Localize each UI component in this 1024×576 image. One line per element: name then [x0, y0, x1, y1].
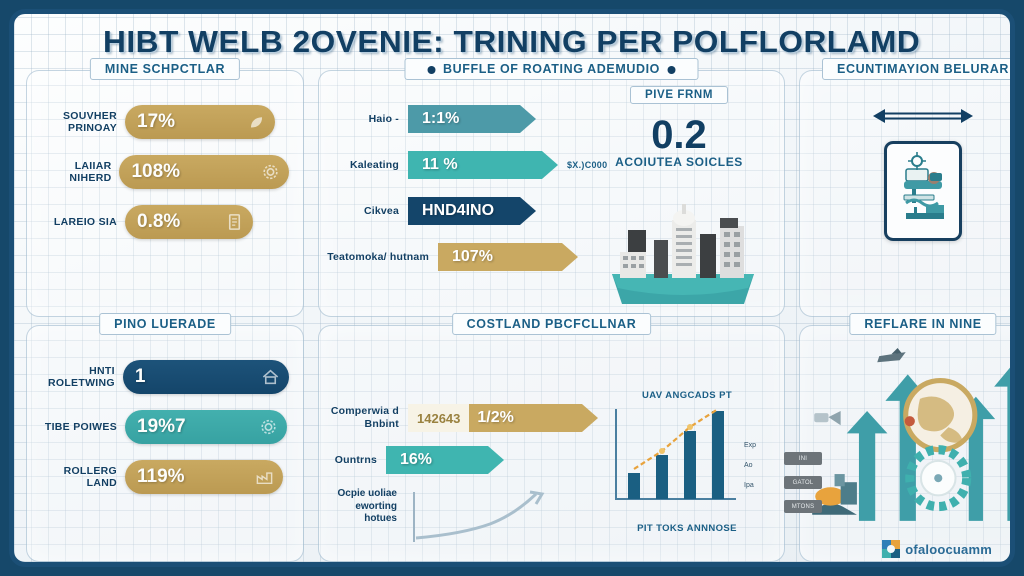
svg-text:Ao: Ao	[744, 462, 753, 469]
mini-chart-xlabel: PIT TOKS ANNNOSE	[598, 523, 776, 534]
arrow-row[interactable]: Haio - 1:1%	[325, 105, 619, 133]
panel-header-buffle-label: BUFFLE OF ROATING ADEMUDIO	[443, 62, 660, 76]
up-arrow-icon	[994, 362, 1015, 521]
squiggle-row: Ocpie uoliae eworting hotues	[325, 488, 598, 546]
pill-label: LAIIAR NIHERD	[35, 160, 111, 184]
city-skyline-illustration	[598, 200, 768, 308]
pill-bar[interactable]: 119%	[125, 460, 283, 494]
pill-label: SOUVHER PRINOAY	[35, 110, 117, 134]
panel-grid: MINE SCHPCTLAR SOUVHER PRINOAY 17% LAIIA…	[26, 70, 998, 562]
double-headed-arrow-icon	[871, 105, 975, 127]
framed-icon-container	[884, 141, 962, 241]
panel-buffle: BUFFLE OF ROATING ADEMUDIO Haio - 1:1% K…	[318, 70, 785, 317]
panel-costland: COSTLAND PBCFCLLNAR Comperwia d Bnbint 1…	[318, 325, 785, 562]
pill-row[interactable]: LAIIAR NIHERD 108%	[35, 155, 289, 189]
house-icon	[261, 368, 280, 387]
arrow-boxed-value: 142643	[408, 404, 469, 432]
globe-icon	[905, 381, 975, 450]
arrow-row[interactable]: Cikvea HND4INO	[325, 197, 619, 225]
stat-number: 0.2	[584, 114, 774, 156]
legend-item[interactable]: INI	[784, 452, 822, 465]
footer-logo[interactable]: ofaloocuamm	[882, 540, 992, 558]
chart-trend-line	[634, 409, 718, 469]
legend-item[interactable]: GATOL	[784, 476, 822, 489]
pill-value: 1	[135, 366, 146, 388]
legend-badge: MTONS	[784, 500, 822, 513]
mini-chart-title: UAV ANGCADS PT	[598, 390, 776, 401]
pill-bar[interactable]: 1	[123, 360, 289, 394]
arrow-label: Cikvea	[325, 205, 399, 218]
costland-body: Comperwia d Bnbint 142643 1/2% Ountrns 1…	[319, 326, 784, 561]
title-wrap: HIBT WELB 2OVENIE: TRINING PER POLFLORLA…	[26, 18, 998, 60]
pill-list-mine: SOUVHER PRINOAY 17% LAIIAR NIHERD 108%	[27, 71, 303, 249]
panel-mine-schpctlar: MINE SCHPCTLAR SOUVHER PRINOAY 17% LAIIA…	[26, 70, 304, 317]
arrow-label: Ountrns	[325, 454, 377, 467]
chart-bar	[712, 411, 724, 499]
mini-bar-chart: UAV ANGCADS PT Exp Ao Ipa	[598, 356, 776, 553]
svg-text:Ipa: Ipa	[744, 482, 754, 489]
arrow-value: HND4INO	[422, 202, 494, 220]
panel-pino-luerade: PINO LUERADE HNTI ROLETWING 1	[26, 325, 304, 562]
pill-bar[interactable]: 19%7	[125, 410, 287, 444]
bullet-dot-icon	[668, 66, 676, 74]
rising-curve-icon	[406, 488, 556, 546]
panel-ecuntimayion: ECUNTIMAYION BELURAR	[799, 70, 1015, 317]
poster-inner: HIBT WELB 2OVENIE: TRINING PER POLFLORLA…	[9, 9, 1015, 567]
poster: HIBT WELB 2OVENIE: TRINING PER POLFLORLA…	[0, 0, 1024, 576]
arrow-label: Comperwia d Bnbint	[325, 405, 399, 430]
arrow-row[interactable]: Kaleating 11 % $X.)C000	[325, 151, 619, 179]
panel-header-pino-luerade: PINO LUERADE	[99, 313, 231, 335]
arrow-bar[interactable]: 142643 1/2%	[408, 404, 598, 432]
pill-row[interactable]: TIBE POIWES 19%7	[35, 410, 289, 444]
page-title: HIBT WELB 2OVENIE: TRINING PER POLFLORLA…	[103, 24, 920, 60]
pill-bar[interactable]: 0.8%	[125, 205, 253, 239]
footer-logo-text: ofaloocuamm	[905, 542, 992, 557]
panel-header-buffle: BUFFLE OF ROATING ADEMUDIO	[404, 58, 699, 80]
pill-label: ROLLERG LAND	[35, 465, 117, 489]
stat-chip-label: PIVE FRNM	[630, 86, 728, 104]
stat-caption: ACOIUTEA SOICLES	[584, 155, 774, 169]
reflare-art: INI GATOL MTONS	[806, 348, 1015, 531]
panel-header-mine-schpctlar: MINE SCHPCTLAR	[90, 58, 240, 80]
arrow-label: Haio -	[325, 113, 399, 126]
pill-list-pino: HNTI ROLETWING 1 TIBE POIWES 19%7	[27, 326, 303, 504]
pill-row[interactable]: SOUVHER PRINOAY 17%	[35, 105, 289, 139]
arrow-bar[interactable]: 11 %	[408, 151, 558, 179]
pill-label: LAREIO SIA	[35, 216, 117, 228]
pill-value: 17%	[137, 111, 175, 133]
growth-arrows-illustration	[806, 348, 1015, 531]
panel-header-costland: COSTLAND PBCFCLLNAR	[452, 313, 652, 335]
arrow-bar[interactable]: HND4INO	[408, 197, 536, 225]
pill-value: 0.8%	[137, 211, 180, 233]
mini-chart-svg: Exp Ao Ipa	[598, 403, 758, 515]
gear-icon	[261, 163, 280, 182]
bullet-dot-icon	[427, 66, 435, 74]
factory-icon	[255, 468, 274, 487]
legend-badge: INI	[784, 452, 822, 465]
pill-value: 19%7	[137, 416, 186, 438]
reflare-legend: INI GATOL MTONS	[784, 452, 822, 513]
gear-icon	[910, 450, 967, 507]
pill-bar[interactable]: 17%	[125, 105, 275, 139]
arrow-label: Kaleating	[325, 159, 399, 172]
pill-label: HNTI ROLETWING	[35, 365, 115, 389]
legend-item[interactable]: MTONS	[784, 500, 822, 513]
chart-bar	[684, 431, 696, 499]
arrow-label: Teatomoka/ hutnam	[325, 251, 429, 264]
pill-row[interactable]: LAREIO SIA 0.8%	[35, 205, 289, 239]
pill-row[interactable]: HNTI ROLETWING 1	[35, 360, 289, 394]
gear-icon	[259, 418, 278, 437]
arrow-value: 107%	[452, 248, 493, 266]
industrial-equipment-icon	[892, 151, 954, 231]
costland-rows: Comperwia d Bnbint 142643 1/2% Ountrns 1…	[325, 356, 598, 553]
panel-header-ecuntimayion: ECUNTIMAYION BELURAR	[822, 58, 1015, 80]
pill-row[interactable]: ROLLERG LAND 119%	[35, 460, 289, 494]
arrow-row[interactable]: Teatomoka/ hutnam 107%	[325, 243, 619, 271]
pill-value: 119%	[137, 466, 185, 488]
arrow-row[interactable]: Comperwia d Bnbint 142643 1/2%	[325, 404, 598, 432]
arrow-list-buffle: Haio - 1:1% Kaleating 11 % $X.)C000 Ci	[319, 71, 619, 271]
chart-bar	[656, 455, 668, 499]
chart-bar	[628, 473, 640, 499]
arrow-bar[interactable]: 107%	[438, 243, 578, 271]
squiggle-label: Ocpie uoliae eworting hotues	[325, 488, 397, 526]
panel-reflare: REFLARE IN NINE	[799, 325, 1015, 562]
satellite-icon	[814, 411, 840, 425]
arrow-value: 11 %	[422, 156, 458, 174]
pill-bar[interactable]: 108%	[119, 155, 289, 189]
svg-text:Exp: Exp	[744, 442, 756, 449]
arrow-value: 1:1%	[422, 110, 459, 128]
panel-header-reflare: REFLARE IN NINE	[849, 313, 996, 335]
pill-value: 108%	[131, 161, 180, 183]
arrow-value: 1/2%	[477, 409, 513, 427]
arrow-bar[interactable]: 1:1%	[408, 105, 536, 133]
document-icon	[225, 213, 244, 232]
pill-label: TIBE POIWES	[35, 421, 117, 433]
arrow-bar[interactable]: 16%	[386, 446, 504, 474]
plane-icon	[877, 348, 905, 362]
stat-block-pive-frnm: PIVE FRNM 0.2 ACOIUTEA SOICLES	[584, 85, 774, 169]
legend-badge: GATOL	[784, 476, 822, 489]
arrow-row[interactable]: Ountrns 16%	[325, 446, 598, 474]
leaf-icon	[247, 113, 266, 132]
brand-logo-icon	[882, 540, 900, 558]
arrow-value: 16%	[400, 451, 432, 469]
